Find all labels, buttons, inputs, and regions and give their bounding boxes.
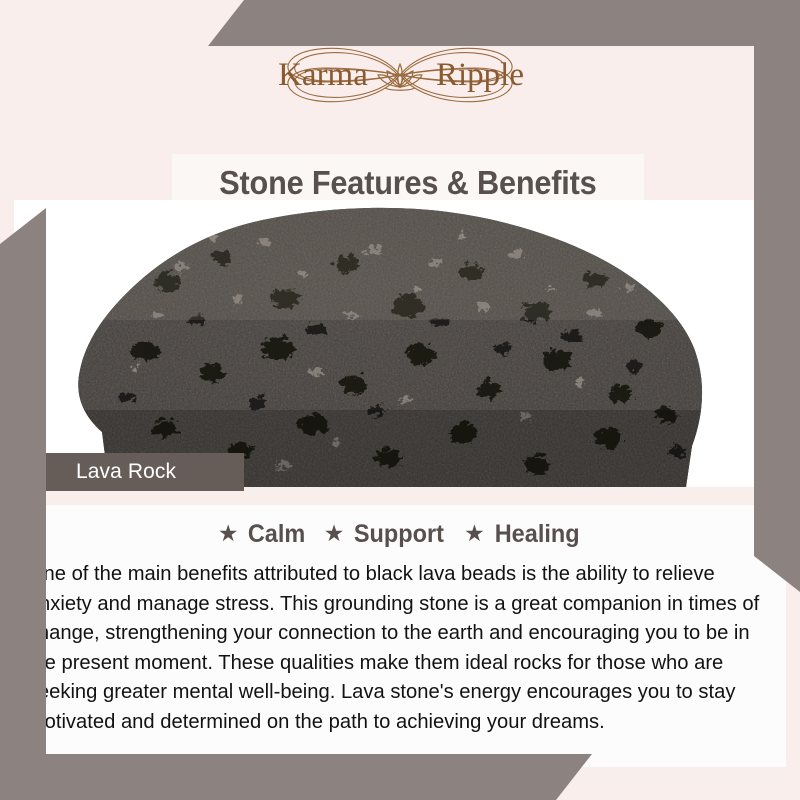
body-paragraph: One of the main benefits attributed to b… <box>14 549 774 736</box>
image-caption-chip: Lava Rock <box>22 453 244 491</box>
benefit-item-healing: ★ Healing <box>464 520 582 549</box>
benefit-label: Calm <box>247 520 304 549</box>
page-title: Stone Features & Benefits <box>219 164 596 202</box>
body-panel: ★ Calm ★ Support ★ Healing One of the ma… <box>14 505 786 767</box>
star-icon: ★ <box>464 522 485 545</box>
star-icon: ★ <box>218 522 239 545</box>
bottom-gap <box>14 767 786 786</box>
benefit-item-calm: ★ Calm <box>218 520 307 549</box>
benefits-row: ★ Calm ★ Support ★ Healing <box>14 505 786 549</box>
karma-ripple-logo-icon: Karma Ripple <box>235 38 565 112</box>
brand-logo: Karma Ripple <box>14 14 786 136</box>
benefit-label: Healing <box>494 520 579 549</box>
benefit-label: Support <box>354 520 444 549</box>
brand-name-right: Ripple <box>436 57 524 93</box>
lava-rock-image <box>14 200 786 487</box>
infographic-canvas: Karma Ripple Stone Features & Benefits <box>0 0 800 800</box>
content-card: Karma Ripple Stone Features & Benefits <box>14 14 786 786</box>
star-icon: ★ <box>324 522 345 545</box>
brand-name-left: Karma <box>278 57 368 93</box>
hero-photo <box>14 200 786 487</box>
image-caption-label: Lava Rock <box>22 460 176 484</box>
benefit-item-support: ★ Support <box>324 520 447 549</box>
